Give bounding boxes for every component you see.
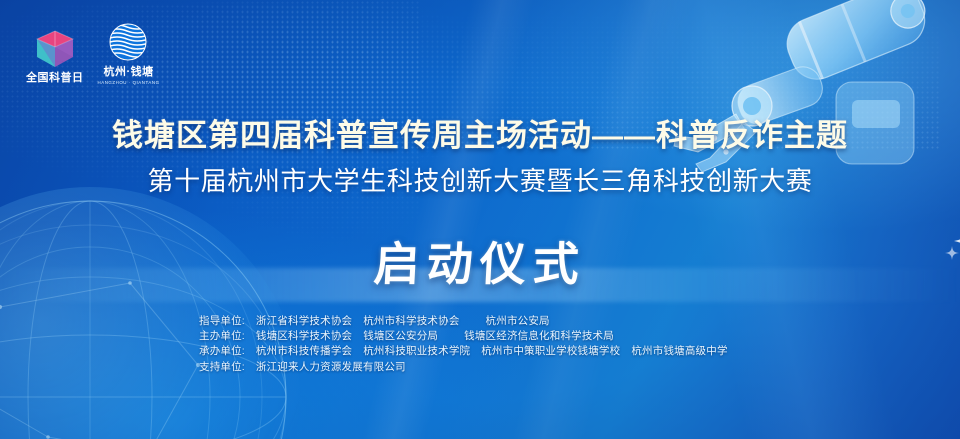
credits-block: 指导单位:浙江省科学技术协会杭州市科学技术协会杭州市公安局 主办单位:钱塘区科学… bbox=[199, 314, 728, 375]
logo-caption-national: 全国科普日 bbox=[26, 73, 84, 85]
hangzhou-qiantang-logo: 杭州·钱塘 HANGZHOU · QIANTANG bbox=[98, 22, 160, 85]
ceremony-block: 启动仪式 bbox=[0, 228, 960, 294]
credit-label-1: 指导单位: bbox=[199, 315, 245, 327]
credit-org-2-1: 钱塘区科学技术协会 bbox=[256, 330, 352, 342]
credit-org-2-2: 钱塘区公安分局 bbox=[363, 330, 438, 342]
colorful-cube-icon bbox=[33, 28, 77, 70]
credit-line-1: 指导单位:浙江省科学技术协会杭州市科学技术协会杭州市公安局 bbox=[199, 314, 728, 329]
logo-subcaption-qiantang: HANGZHOU · QIANTANG bbox=[98, 80, 160, 85]
credit-line-4: 支持单位:浙江迎来人力资源发展有限公司 bbox=[199, 360, 728, 375]
logo-caption-qiantang: 杭州·钱塘 bbox=[103, 67, 153, 79]
event-banner: 全国科普日 bbox=[0, 0, 960, 439]
wave-circle-icon bbox=[107, 22, 151, 64]
credit-label-3: 承办单位: bbox=[199, 345, 245, 357]
banner-title-main: 钱塘区第四届科普宣传周主场活动——科普反诈主题 bbox=[0, 118, 960, 155]
wireframe-globe-graphic bbox=[0, 187, 300, 439]
banner-title-sub: 第十届杭州市大学生科技创新大赛暨长三角科技创新大赛 bbox=[0, 166, 960, 197]
credit-label-4: 支持单位: bbox=[199, 361, 245, 373]
national-science-popularization-day-logo: 全国科普日 bbox=[26, 28, 84, 85]
ceremony-title: 启动仪式 bbox=[366, 228, 593, 294]
credit-line-3: 承办单位:杭州市科技传播学会杭州科技职业技术学院杭州市中策职业学校钱塘学校杭州市… bbox=[199, 344, 728, 359]
credit-org-2-3: 钱塘区经济信息化和科学技术局 bbox=[464, 330, 614, 342]
sparkle-star-icon bbox=[942, 222, 960, 266]
credit-org-3-2: 杭州科技职业技术学院 bbox=[363, 345, 470, 357]
credit-label-2: 主办单位: bbox=[199, 330, 245, 342]
credit-line-2: 主办单位:钱塘区科学技术协会钱塘区公安分局钱塘区经济信息化和科学技术局 bbox=[199, 329, 728, 344]
credit-org-3-3: 杭州市中策职业学校钱塘学校 bbox=[481, 345, 620, 357]
credit-org-3-1: 杭州市科技传播学会 bbox=[256, 345, 352, 357]
title-block: 钱塘区第四届科普宣传周主场活动——科普反诈主题 第十届杭州市大学生科技创新大赛暨… bbox=[0, 118, 960, 197]
logo-group: 全国科普日 bbox=[26, 22, 160, 85]
credit-org-1-3: 杭州市公安局 bbox=[486, 315, 550, 327]
credit-org-1-1: 浙江省科学技术协会 bbox=[256, 315, 352, 327]
credit-org-3-4: 杭州市钱塘高级中学 bbox=[631, 345, 727, 357]
credit-org-4-1: 浙江迎来人力资源发展有限公司 bbox=[256, 361, 406, 373]
credit-org-1-2: 杭州市科学技术协会 bbox=[363, 315, 459, 327]
